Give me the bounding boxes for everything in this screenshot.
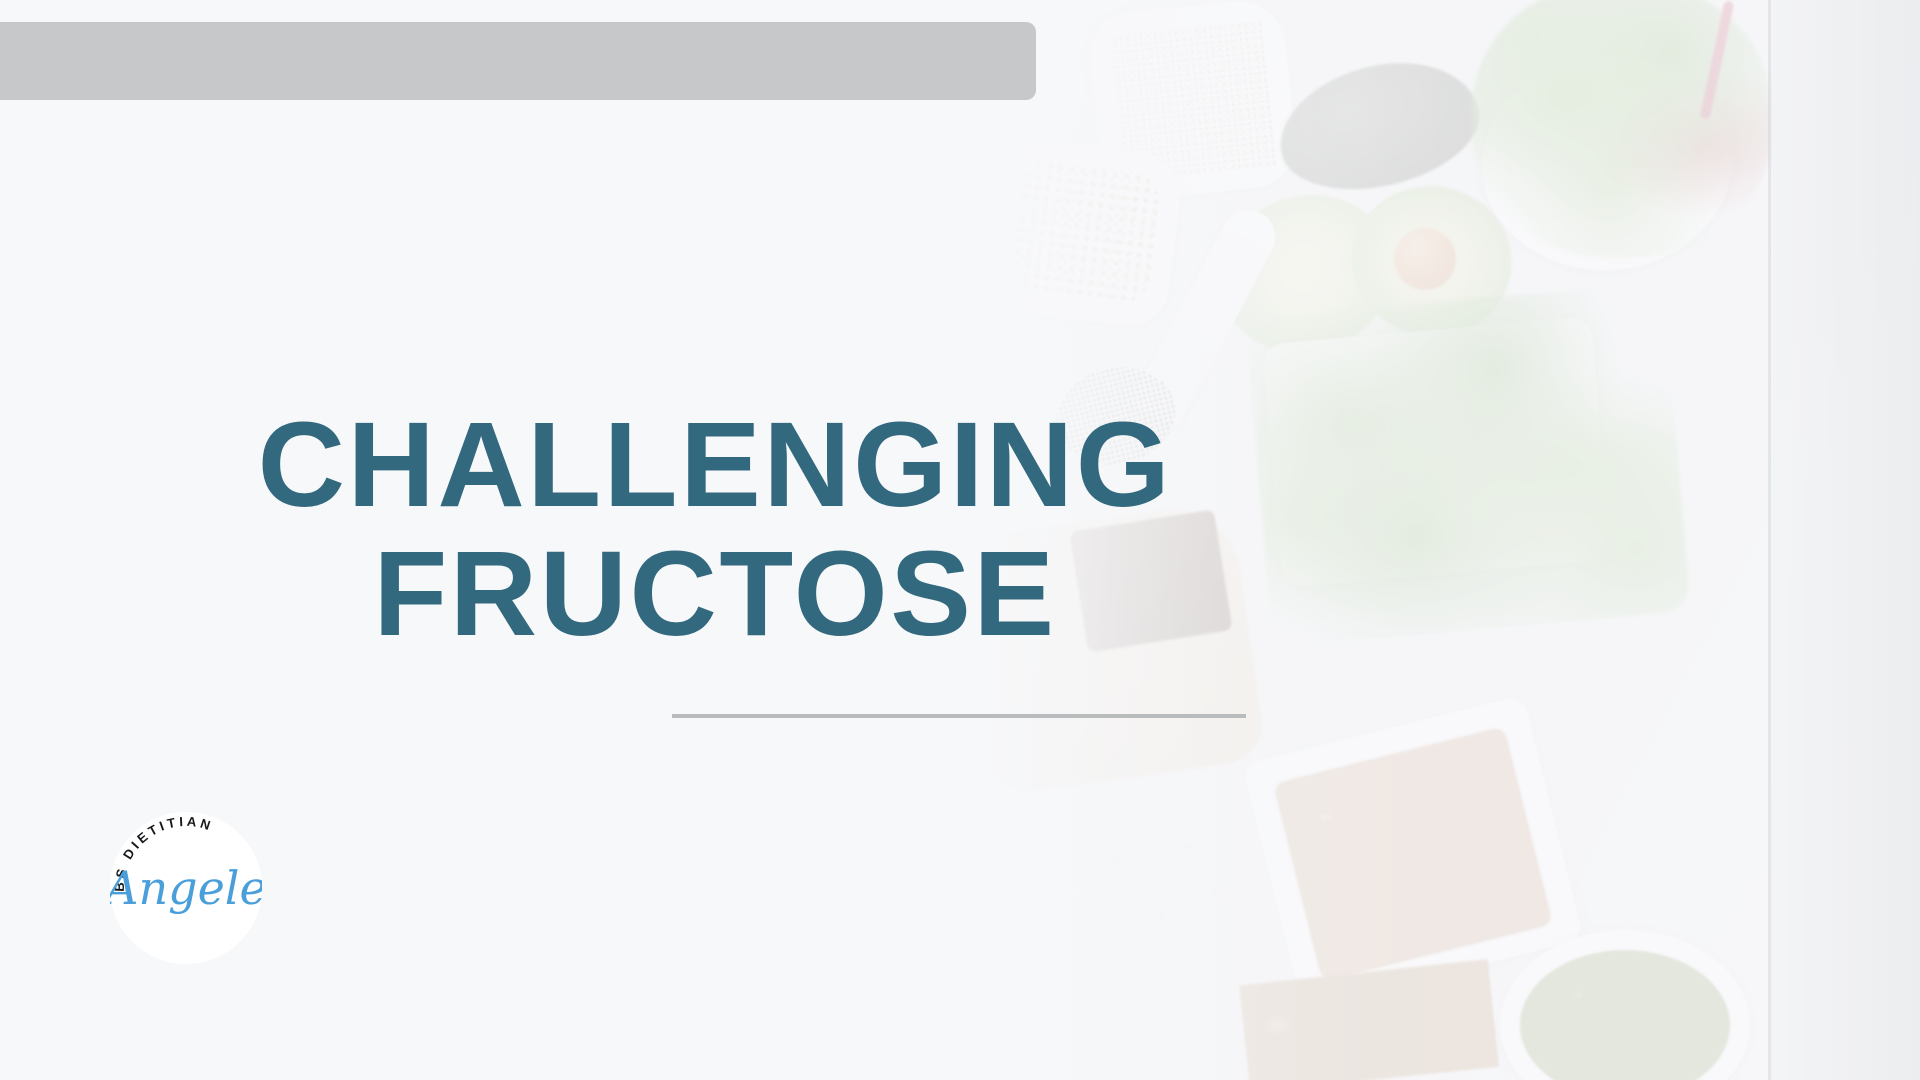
whole-avocado-icon [1267, 45, 1491, 207]
avocado-pit-icon [1394, 228, 1456, 290]
presentation-slide: CHALLENGING FRUCTOSE IBS DIETITIAN Angel… [0, 0, 1920, 1080]
serving-spoon-icon [1129, 201, 1285, 429]
yogurt-bowl-icon [1500, 930, 1750, 1080]
title-block: CHALLENGING FRUCTOSE [0, 400, 1430, 659]
beet-stem-icon [1700, 0, 1735, 119]
rolled-oats-icon [1044, 768, 1254, 958]
mixed-salad-leaves-icon [1472, 0, 1772, 258]
brand-logo-graphic: IBS DIETITIAN Angele [110, 812, 262, 964]
bean-tray-icon [1242, 695, 1584, 1010]
quinoa-bowl-icon [1086, 0, 1301, 204]
chickpeas-icon [1007, 158, 1162, 308]
halved-avocado-right-icon [1340, 173, 1524, 349]
seed-yogurt-icon [1520, 950, 1730, 1080]
header-placeholder-bar[interactable] [0, 22, 1036, 100]
mixed-beans-icon [1273, 726, 1553, 982]
title-divider-rule [672, 714, 1246, 718]
chickpea-bowl-icon [985, 136, 1185, 331]
right-edge-band [1770, 0, 1920, 1080]
quinoa-grains-icon [1110, 20, 1276, 181]
brand-logo[interactable]: IBS DIETITIAN Angele [110, 812, 262, 964]
page-title: CHALLENGING FRUCTOSE [0, 400, 1430, 659]
right-edge-divider [1768, 0, 1771, 1080]
almonds-icon [1239, 959, 1499, 1080]
logo-script-name: Angele [110, 861, 262, 915]
title-line-2: FRUCTOSE [0, 529, 1430, 658]
title-line-1: CHALLENGING [0, 400, 1430, 529]
halved-avocado-left-icon [1198, 173, 1414, 376]
salad-bowl-icon [1475, 48, 1739, 279]
